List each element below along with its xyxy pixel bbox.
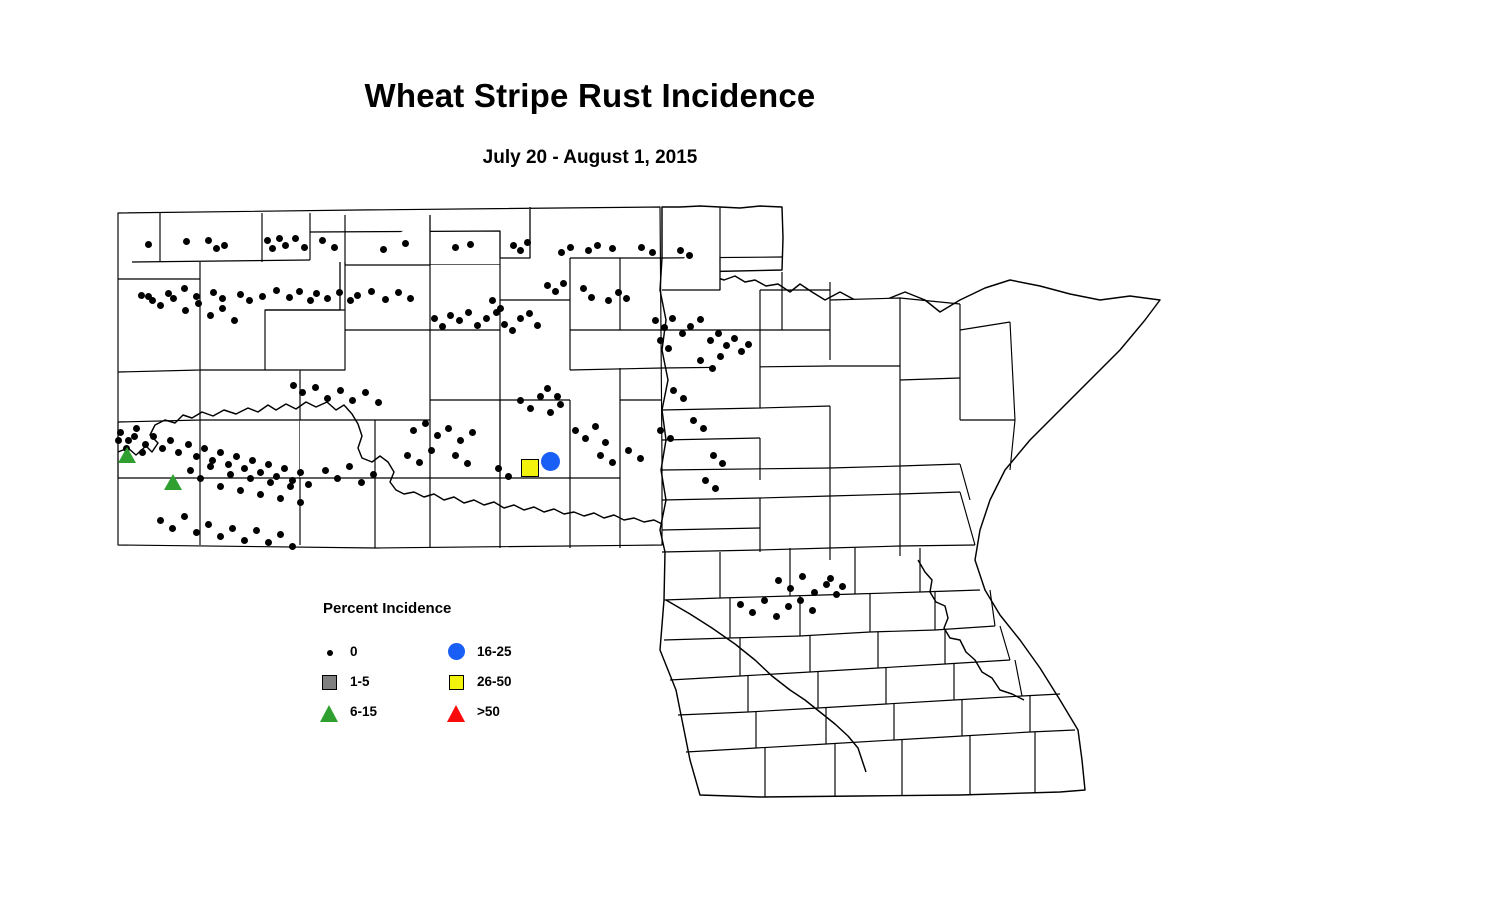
incidence-marker-0 bbox=[219, 295, 226, 302]
incidence-marker-0 bbox=[557, 401, 564, 408]
incidence-marker-0 bbox=[305, 481, 312, 488]
incidence-marker-0 bbox=[324, 395, 331, 402]
incidence-marker-0 bbox=[637, 455, 644, 462]
incidence-marker-0 bbox=[605, 297, 612, 304]
incidence-marker-0 bbox=[313, 290, 320, 297]
incidence-marker-0 bbox=[709, 365, 716, 372]
incidence-marker-0 bbox=[197, 475, 204, 482]
legend-label-over-50: >50 bbox=[477, 704, 500, 719]
incidence-marker-0 bbox=[277, 531, 284, 538]
incidence-marker-0 bbox=[625, 447, 632, 454]
incidence-marker-0 bbox=[690, 417, 697, 424]
incidence-marker-16-25 bbox=[541, 452, 560, 471]
incidence-marker-0 bbox=[773, 613, 780, 620]
incidence-marker-0 bbox=[201, 445, 208, 452]
legend-title: Percent Incidence bbox=[323, 600, 451, 617]
incidence-marker-0 bbox=[297, 499, 304, 506]
incidence-marker-0 bbox=[207, 463, 214, 470]
incidence-marker-0 bbox=[312, 384, 319, 391]
incidence-marker-0 bbox=[464, 460, 471, 467]
incidence-marker-0 bbox=[833, 591, 840, 598]
incidence-marker-0 bbox=[524, 239, 531, 246]
incidence-marker-0 bbox=[585, 247, 592, 254]
incidence-marker-0 bbox=[349, 397, 356, 404]
incidence-marker-0 bbox=[183, 238, 190, 245]
incidence-marker-0 bbox=[286, 294, 293, 301]
incidence-marker-0 bbox=[687, 323, 694, 330]
incidence-marker-0 bbox=[787, 585, 794, 592]
legend-label-16-25: 16-25 bbox=[477, 644, 512, 659]
incidence-marker-0 bbox=[652, 317, 659, 324]
incidence-marker-0 bbox=[723, 342, 730, 349]
incidence-marker-0 bbox=[582, 435, 589, 442]
incidence-marker-0 bbox=[233, 453, 240, 460]
incidence-marker-0 bbox=[560, 280, 567, 287]
incidence-marker-0 bbox=[337, 387, 344, 394]
incidence-marker-0 bbox=[447, 312, 454, 319]
incidence-marker-0 bbox=[638, 244, 645, 251]
incidence-marker-0 bbox=[445, 425, 452, 432]
incidence-marker-0 bbox=[797, 597, 804, 604]
incidence-marker-0 bbox=[181, 285, 188, 292]
incidence-marker-0 bbox=[407, 295, 414, 302]
incidence-marker-0 bbox=[277, 495, 284, 502]
incidence-marker-0 bbox=[823, 581, 830, 588]
incidence-marker-0 bbox=[465, 309, 472, 316]
incidence-marker-0 bbox=[322, 467, 329, 474]
incidence-marker-0 bbox=[505, 473, 512, 480]
incidence-marker-0 bbox=[282, 242, 289, 249]
incidence-marker-0 bbox=[474, 322, 481, 329]
incidence-marker-0 bbox=[259, 293, 266, 300]
incidence-marker-0 bbox=[257, 491, 264, 498]
incidence-marker-0 bbox=[439, 323, 446, 330]
county-map-svg bbox=[0, 0, 1503, 900]
incidence-marker-0 bbox=[219, 305, 226, 312]
incidence-marker-0 bbox=[544, 282, 551, 289]
incidence-marker-0 bbox=[354, 292, 361, 299]
incidence-marker-0 bbox=[324, 295, 331, 302]
incidence-marker-0 bbox=[231, 317, 238, 324]
legend-label-1-5: 1-5 bbox=[350, 674, 370, 689]
incidence-marker-0 bbox=[657, 337, 664, 344]
incidence-marker-0 bbox=[547, 409, 554, 416]
incidence-marker-0 bbox=[717, 353, 724, 360]
incidence-marker-0 bbox=[145, 293, 152, 300]
incidence-marker-0 bbox=[657, 427, 664, 434]
incidence-marker-0 bbox=[526, 310, 533, 317]
incidence-marker-0 bbox=[273, 287, 280, 294]
green-triangle-icon bbox=[318, 700, 344, 726]
incidence-marker-0 bbox=[273, 473, 280, 480]
incidence-marker-0 bbox=[517, 397, 524, 404]
incidence-marker-0 bbox=[422, 420, 429, 427]
incidence-marker-0 bbox=[175, 449, 182, 456]
incidence-marker-0 bbox=[193, 293, 200, 300]
incidence-marker-0 bbox=[362, 389, 369, 396]
incidence-marker-0 bbox=[588, 294, 595, 301]
incidence-marker-0 bbox=[580, 285, 587, 292]
incidence-marker-0 bbox=[594, 242, 601, 249]
incidence-marker-0 bbox=[715, 330, 722, 337]
incidence-marker-0 bbox=[509, 327, 516, 334]
incidence-marker-0 bbox=[287, 483, 294, 490]
incidence-marker-0 bbox=[241, 465, 248, 472]
incidence-marker-0 bbox=[299, 389, 306, 396]
incidence-marker-0 bbox=[193, 453, 200, 460]
incidence-marker-0 bbox=[483, 315, 490, 322]
incidence-marker-0 bbox=[241, 537, 248, 544]
incidence-marker-0 bbox=[217, 483, 224, 490]
north-dakota-counties bbox=[118, 207, 662, 548]
incidence-marker-0 bbox=[181, 513, 188, 520]
incidence-marker-0 bbox=[370, 471, 377, 478]
incidence-marker-0 bbox=[712, 485, 719, 492]
incidence-marker-0 bbox=[428, 447, 435, 454]
incidence-marker-0 bbox=[229, 525, 236, 532]
incidence-marker-6-15 bbox=[118, 447, 136, 463]
incidence-marker-0 bbox=[115, 437, 122, 444]
incidence-marker-0 bbox=[697, 357, 704, 364]
incidence-marker-0 bbox=[517, 247, 524, 254]
legend-label-6-15: 6-15 bbox=[350, 704, 377, 719]
incidence-marker-0 bbox=[375, 399, 382, 406]
incidence-marker-6-15 bbox=[164, 474, 182, 490]
incidence-marker-0 bbox=[661, 324, 668, 331]
incidence-marker-0 bbox=[809, 607, 816, 614]
incidence-marker-0 bbox=[205, 237, 212, 244]
black-dot-icon bbox=[318, 640, 344, 666]
incidence-marker-0 bbox=[710, 452, 717, 459]
incidence-marker-0 bbox=[558, 249, 565, 256]
incidence-marker-0 bbox=[227, 471, 234, 478]
incidence-marker-0 bbox=[434, 432, 441, 439]
incidence-marker-0 bbox=[382, 296, 389, 303]
incidence-marker-0 bbox=[193, 529, 200, 536]
incidence-marker-0 bbox=[237, 291, 244, 298]
incidence-marker-0 bbox=[267, 479, 274, 486]
incidence-marker-0 bbox=[839, 583, 846, 590]
incidence-marker-0 bbox=[138, 292, 145, 299]
incidence-marker-0 bbox=[700, 425, 707, 432]
incidence-marker-0 bbox=[552, 288, 559, 295]
incidence-marker-0 bbox=[210, 289, 217, 296]
incidence-marker-0 bbox=[296, 288, 303, 295]
incidence-marker-0 bbox=[497, 305, 504, 312]
incidence-marker-0 bbox=[253, 527, 260, 534]
incidence-marker-0 bbox=[534, 322, 541, 329]
incidence-marker-0 bbox=[237, 487, 244, 494]
incidence-marker-0 bbox=[799, 573, 806, 580]
incidence-marker-0 bbox=[702, 477, 709, 484]
incidence-marker-0 bbox=[527, 405, 534, 412]
incidence-marker-0 bbox=[213, 245, 220, 252]
incidence-marker-0 bbox=[554, 393, 561, 400]
incidence-marker-26-50 bbox=[521, 459, 539, 477]
blue-circle-icon bbox=[445, 640, 471, 666]
incidence-marker-0 bbox=[346, 463, 353, 470]
legend-label-26-50: 26-50 bbox=[477, 674, 512, 689]
incidence-marker-0 bbox=[402, 240, 409, 247]
incidence-marker-0 bbox=[159, 445, 166, 452]
incidence-marker-0 bbox=[292, 235, 299, 242]
incidence-marker-0 bbox=[157, 517, 164, 524]
incidence-marker-0 bbox=[469, 429, 476, 436]
incidence-marker-0 bbox=[670, 387, 677, 394]
incidence-marker-0 bbox=[145, 241, 152, 248]
incidence-marker-0 bbox=[609, 459, 616, 466]
incidence-marker-0 bbox=[707, 337, 714, 344]
incidence-marker-0 bbox=[467, 241, 474, 248]
incidence-marker-0 bbox=[456, 317, 463, 324]
incidence-marker-0 bbox=[602, 439, 609, 446]
legend: Percent Incidence 0 1-5 6-15 16-25 bbox=[318, 600, 548, 735]
incidence-marker-0 bbox=[368, 288, 375, 295]
minnesota-counties bbox=[660, 206, 1160, 797]
incidence-marker-0 bbox=[307, 297, 314, 304]
incidence-marker-0 bbox=[827, 575, 834, 582]
incidence-marker-0 bbox=[217, 533, 224, 540]
incidence-marker-0 bbox=[395, 289, 402, 296]
incidence-marker-0 bbox=[738, 348, 745, 355]
incidence-marker-0 bbox=[217, 449, 224, 456]
incidence-marker-0 bbox=[265, 461, 272, 468]
incidence-marker-0 bbox=[452, 452, 459, 459]
incidence-marker-0 bbox=[247, 475, 254, 482]
incidence-marker-0 bbox=[319, 237, 326, 244]
incidence-marker-0 bbox=[297, 469, 304, 476]
incidence-marker-0 bbox=[609, 245, 616, 252]
incidence-marker-0 bbox=[380, 246, 387, 253]
incidence-marker-0 bbox=[737, 601, 744, 608]
incidence-marker-0 bbox=[167, 437, 174, 444]
incidence-marker-0 bbox=[331, 244, 338, 251]
incidence-marker-0 bbox=[775, 577, 782, 584]
incidence-marker-0 bbox=[195, 300, 202, 307]
incidence-marker-0 bbox=[745, 341, 752, 348]
incidence-marker-0 bbox=[289, 543, 296, 550]
incidence-marker-0 bbox=[139, 449, 146, 456]
incidence-marker-0 bbox=[457, 437, 464, 444]
incidence-marker-0 bbox=[615, 289, 622, 296]
incidence-marker-0 bbox=[649, 249, 656, 256]
incidence-marker-0 bbox=[257, 469, 264, 476]
incidence-marker-0 bbox=[290, 382, 297, 389]
incidence-marker-0 bbox=[205, 521, 212, 528]
incidence-marker-0 bbox=[276, 235, 283, 242]
incidence-marker-0 bbox=[404, 452, 411, 459]
incidence-marker-0 bbox=[669, 315, 676, 322]
incidence-marker-0 bbox=[665, 345, 672, 352]
incidence-marker-0 bbox=[686, 252, 693, 259]
incidence-marker-0 bbox=[544, 385, 551, 392]
incidence-marker-0 bbox=[572, 427, 579, 434]
incidence-marker-0 bbox=[225, 461, 232, 468]
incidence-marker-0 bbox=[170, 295, 177, 302]
incidence-marker-0 bbox=[416, 459, 423, 466]
incidence-marker-0 bbox=[749, 609, 756, 616]
incidence-marker-0 bbox=[679, 330, 686, 337]
incidence-marker-0 bbox=[347, 297, 354, 304]
incidence-marker-0 bbox=[410, 427, 417, 434]
incidence-marker-0 bbox=[719, 460, 726, 467]
yellow-square-icon bbox=[445, 670, 471, 696]
incidence-marker-0 bbox=[731, 335, 738, 342]
legend-label-0: 0 bbox=[350, 644, 358, 659]
incidence-marker-0 bbox=[249, 457, 256, 464]
incidence-marker-0 bbox=[264, 237, 271, 244]
map-figure: Wheat Stripe Rust Incidence July 20 - Au… bbox=[0, 0, 1503, 900]
incidence-marker-0 bbox=[117, 429, 124, 436]
incidence-marker-0 bbox=[187, 467, 194, 474]
incidence-marker-0 bbox=[336, 289, 343, 296]
incidence-marker-0 bbox=[281, 465, 288, 472]
incidence-marker-0 bbox=[680, 395, 687, 402]
incidence-marker-0 bbox=[301, 244, 308, 251]
incidence-marker-0 bbox=[592, 423, 599, 430]
incidence-marker-0 bbox=[157, 302, 164, 309]
incidence-marker-0 bbox=[131, 433, 138, 440]
incidence-marker-0 bbox=[761, 597, 768, 604]
incidence-marker-0 bbox=[697, 316, 704, 323]
incidence-marker-0 bbox=[207, 312, 214, 319]
incidence-marker-0 bbox=[785, 603, 792, 610]
incidence-marker-0 bbox=[537, 393, 544, 400]
incidence-marker-0 bbox=[501, 321, 508, 328]
map-canvas bbox=[0, 0, 1503, 900]
incidence-marker-0 bbox=[169, 525, 176, 532]
incidence-marker-0 bbox=[246, 297, 253, 304]
incidence-marker-0 bbox=[667, 435, 674, 442]
incidence-marker-0 bbox=[221, 242, 228, 249]
incidence-marker-0 bbox=[811, 589, 818, 596]
incidence-marker-0 bbox=[677, 247, 684, 254]
incidence-marker-0 bbox=[182, 307, 189, 314]
incidence-marker-0 bbox=[495, 465, 502, 472]
incidence-marker-0 bbox=[452, 244, 459, 251]
incidence-marker-0 bbox=[597, 452, 604, 459]
incidence-marker-0 bbox=[623, 295, 630, 302]
incidence-marker-0 bbox=[142, 441, 149, 448]
incidence-marker-0 bbox=[510, 242, 517, 249]
incidence-marker-0 bbox=[431, 315, 438, 322]
incidence-marker-0 bbox=[150, 433, 157, 440]
incidence-marker-0 bbox=[269, 245, 276, 252]
incidence-marker-0 bbox=[358, 479, 365, 486]
gray-square-icon bbox=[318, 670, 344, 696]
incidence-marker-0 bbox=[517, 315, 524, 322]
incidence-marker-0 bbox=[265, 539, 272, 546]
incidence-marker-0 bbox=[185, 441, 192, 448]
red-triangle-icon bbox=[445, 700, 471, 726]
incidence-marker-0 bbox=[489, 297, 496, 304]
incidence-marker-0 bbox=[133, 425, 140, 432]
incidence-marker-0 bbox=[567, 244, 574, 251]
incidence-marker-0 bbox=[334, 475, 341, 482]
